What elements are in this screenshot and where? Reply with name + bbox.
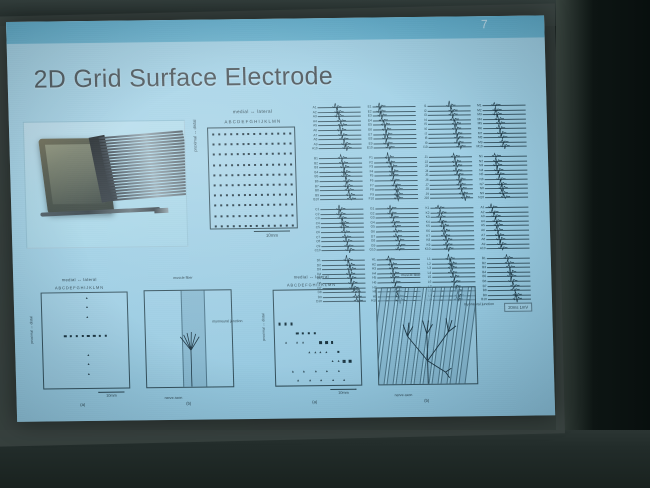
electrode-photograph: [23, 120, 189, 249]
electrode-dot: [289, 153, 291, 155]
emg-channel-label: K2: [421, 210, 429, 214]
electrode-dot: [289, 143, 291, 145]
panel-1a-column-letters: ABCDEFGHIJKLMN: [27, 284, 131, 290]
emg-trace-baseline: [429, 161, 472, 163]
scatter-point-square: [104, 335, 106, 337]
emg-channel-label: B6: [311, 179, 319, 183]
electrode-dot-row: [208, 132, 294, 134]
electrode-dot: [220, 195, 222, 197]
emg-channel-block: J1J2J3J4J5J6J7J8J9J10: [420, 153, 476, 205]
electrode-dot: [238, 215, 240, 217]
emg-channel-label: F8: [366, 188, 374, 192]
electrode-dot: [285, 194, 287, 196]
emg-channel-label: A4: [477, 219, 485, 223]
scatter-point-triangle: [285, 342, 287, 344]
emg-channel-block: K1K2K3K4K5K6K7K8K9K10: [421, 204, 477, 256]
electrode-dot: [227, 225, 229, 227]
emg-channel-block: M1M2M3M4M5M6M7M8M9M10: [473, 102, 529, 154]
electrode-dot: [244, 225, 246, 227]
emg-trace-baseline: [320, 199, 363, 201]
emg-channel-label: C8: [312, 239, 320, 243]
electrode-dot: [237, 184, 239, 186]
panel-1b-schematic: muscle fiber myoneural junction nerve ax…: [133, 275, 241, 404]
emg-channel-label: K7: [422, 233, 430, 237]
electrode-dot-row: [210, 183, 296, 185]
emg-trace-baseline: [486, 243, 529, 245]
electrode-dot: [226, 215, 228, 217]
emg-channel-label: A7: [477, 233, 485, 237]
electrode-dot: [259, 133, 261, 135]
panel-1a-scale-bar: 10mm: [98, 392, 124, 398]
presentation-slide: 7 2D Grid Surface Electrode medial ↔ lat…: [6, 15, 555, 421]
panel-2a-axis-top-label: medial ↔ lateral: [259, 274, 363, 280]
panel-1a-label: (a): [31, 401, 135, 407]
electrode-dot: [284, 163, 286, 165]
emg-channel-label: A7: [309, 133, 317, 137]
electrode-dot: [242, 143, 244, 145]
emg-channel-block: I1I2I3I4I5I6I7I8I9I10: [418, 102, 474, 154]
electrode-dot: [254, 164, 256, 166]
emg-channel-block: B1B2B3B4B5B6B7B8B9B10: [310, 155, 366, 207]
scatter-point-square: [70, 335, 72, 337]
emg-channel-block: B1B2B3B4B5B6B7B8B9B10: [478, 255, 534, 307]
emg-action-potential: [500, 141, 509, 150]
electrode-dot: [291, 214, 293, 216]
emg-channel-label: M3: [474, 112, 482, 116]
emg-trace-baseline: [431, 239, 474, 241]
emg-channel-label: J10: [421, 196, 429, 200]
electrode-dot: [265, 133, 267, 135]
emg-channel-label: A6: [477, 228, 485, 232]
electrode-dot: [266, 143, 268, 145]
emg-channel-label: J7: [421, 182, 429, 186]
electrode-dot: [266, 163, 268, 165]
scatter-point-square: [331, 341, 333, 343]
electrode-dot: [290, 173, 292, 175]
scatter-point-square: [93, 335, 95, 337]
emg-trace-baseline: [428, 124, 471, 126]
electrode-dot: [230, 154, 232, 156]
emg-trace-baseline: [319, 143, 362, 145]
emg-channel-label: I8: [419, 136, 427, 140]
scatter-point-triangle: [86, 297, 88, 299]
emg-trace-baseline: [374, 147, 417, 149]
emg-channel-label: A6: [309, 128, 317, 132]
electrode-dot: [279, 204, 281, 206]
scatter-point-triangle: [297, 379, 299, 381]
electrode-dot: [272, 163, 274, 165]
scatter-point-triangle: [332, 379, 334, 381]
emg-channel-label: I1: [418, 104, 426, 108]
electrode-dot: [260, 163, 262, 165]
wall-right-panel: [556, 0, 650, 488]
emg-channel-label: I9: [419, 141, 427, 145]
electrode-dot: [248, 133, 250, 135]
emg-trace-baseline: [486, 234, 529, 236]
electrode-dot: [226, 205, 228, 207]
emg-trace-baseline: [374, 157, 417, 159]
emg-channel-label: B1: [478, 256, 486, 260]
emg-channel-label: M4: [474, 117, 482, 121]
scatter-point-triangle: [320, 379, 322, 381]
panel-2a-scatter: medial ↔ lateral ABCDEFGHIJKLMN proximal…: [259, 274, 367, 403]
emg-channel-label: G5: [367, 225, 375, 229]
electrode-dot: [256, 225, 258, 227]
emg-channel-label: A10: [477, 247, 485, 251]
electrode-dot-row: [211, 224, 297, 226]
electrode-dot-row: [208, 143, 294, 145]
emg-channel-label: J3: [420, 164, 428, 168]
panel-2a-scale-label: 10mm: [330, 391, 356, 395]
electrode-dot: [261, 204, 263, 206]
panel-2b-muscle-fiber-caption: muscle fiber: [401, 273, 420, 277]
emg-channel-block: N1N2N3N4N5N6N7N8N9N10: [475, 153, 531, 205]
emg-channel-label: J6: [421, 178, 429, 182]
emg-channel-label: I4: [419, 118, 427, 122]
emg-channel-label: A1: [308, 105, 316, 109]
emg-channel-label: M9: [474, 140, 482, 144]
emg-channel-label: N1: [475, 154, 483, 158]
emg-channel-label: F2: [365, 160, 373, 164]
panel-2a-label: (a): [263, 399, 367, 405]
electrode-dot: [215, 225, 217, 227]
emg-channel-label: E10: [365, 146, 373, 150]
emg-channel-label: N4: [475, 168, 483, 172]
emg-channel-label: N9: [476, 191, 484, 195]
emg-channel-label: B7: [311, 184, 319, 188]
emg-channel-label: N7: [476, 182, 484, 186]
electrode-dot: [250, 204, 252, 206]
electrode-dot: [271, 143, 273, 145]
emg-channel-label: A3: [477, 214, 485, 218]
emg-channel-label: F10: [366, 197, 374, 201]
emg-channel-label: D2: [313, 263, 321, 267]
emg-trace-baseline: [321, 245, 364, 247]
scatter-point-triangle: [302, 342, 304, 344]
emg-channel-label: B9: [311, 193, 319, 197]
emg-trace-baseline: [429, 170, 472, 172]
electrode-dot: [231, 164, 233, 166]
pen-tip: [154, 208, 168, 214]
electrode-dot: [219, 164, 221, 166]
electrode-dot: [286, 224, 288, 226]
emg-trace-baseline: [488, 299, 531, 301]
emg-channel-label: A9: [309, 142, 317, 146]
emg-channel-label: A3: [309, 114, 317, 118]
emg-channel-label: I10: [420, 145, 428, 149]
panel-2a-column-letters: ABCDEFGHIJKLMN: [259, 282, 363, 288]
electrode-dot: [291, 194, 293, 196]
electrode-dot: [218, 133, 220, 135]
emg-channel-label: B3: [478, 265, 486, 269]
scatter-point-triangle: [308, 351, 310, 353]
electrode-dot: [255, 204, 257, 206]
electrode-dot: [250, 215, 252, 217]
scatter-point-square: [87, 335, 89, 337]
electrode-dot: [213, 164, 215, 166]
emg-channel-label: J8: [421, 187, 429, 191]
emg-channel-label: M1: [473, 103, 481, 107]
electrode-dot: [284, 173, 286, 175]
emg-action-potential: [394, 194, 403, 203]
electrode-dot: [266, 153, 268, 155]
emg-channel-block: A1A2A3A4A5A6A7A8A9A10: [308, 104, 364, 156]
nerve-axon-drawing: [145, 290, 234, 387]
emg-channel-label: I7: [419, 131, 427, 135]
emg-channel-label: K10: [422, 247, 430, 251]
emg-channel-label: E4: [364, 118, 372, 122]
electrode-dot: [254, 153, 256, 155]
grid-axis-top-label: medial ↔ lateral: [205, 108, 301, 114]
emg-action-potential: [513, 294, 522, 303]
emg-channel-label: L1: [423, 257, 431, 261]
emg-channel-label: C9: [312, 244, 320, 248]
scatter-point-triangle: [337, 360, 339, 362]
emg-channel-label: C3: [312, 216, 320, 220]
emg-action-potential: [385, 143, 394, 152]
panel-2b-label: (b): [369, 397, 485, 403]
emg-channel-label: M6: [474, 126, 482, 130]
scatter-point-square: [325, 341, 327, 343]
scatter-point-square: [308, 332, 310, 334]
panel-1b-nerve-axon-caption: nerve axon: [165, 396, 183, 400]
electrode-dot: [225, 164, 227, 166]
emg-channel-label: J1: [420, 155, 428, 159]
electrode-dot: [224, 133, 226, 135]
scatter-point-triangle: [344, 379, 346, 381]
scatter-point-triangle: [320, 351, 322, 353]
emg-trace-baseline: [484, 160, 527, 162]
scatter-point-triangle: [326, 370, 328, 372]
emg-channel-label: B8: [311, 188, 319, 192]
scatter-point-square: [284, 323, 286, 325]
emg-channel-label: G8: [367, 239, 375, 243]
panel-1a-scale-label: 10mm: [98, 394, 124, 398]
electrode-dot: [279, 214, 281, 216]
electrode-dot: [238, 225, 240, 227]
electrode-dot: [266, 174, 268, 176]
emg-trace-baseline: [320, 185, 363, 187]
emg-channel-label: A9: [477, 242, 485, 246]
emg-trace-baseline: [487, 248, 530, 250]
emg-channel-label: C1: [311, 207, 319, 211]
electrode-dot: [268, 214, 270, 216]
electrode-dot: [225, 174, 227, 176]
emg-channel-label: B1: [310, 156, 318, 160]
electrode-dot: [254, 143, 256, 145]
panel-1a-axis-left-label: proximal ↔ distal: [29, 316, 34, 344]
emg-channel-label: D1: [313, 258, 321, 262]
electrode-dot: [230, 133, 232, 135]
electrode-dot: [242, 133, 244, 135]
emg-channel-label: M8: [474, 135, 482, 139]
emg-channel-label: H3: [368, 267, 376, 271]
electrode-dot: [236, 154, 238, 156]
scatter-point-square: [290, 323, 292, 325]
emg-trace-baseline: [484, 156, 527, 158]
emg-trace-baseline: [322, 269, 365, 271]
scatter-point-triangle: [88, 354, 90, 356]
emg-channel-label: K9: [422, 243, 430, 247]
grid-scale-label: 10mm: [254, 233, 290, 238]
emg-channel-label: G4: [367, 220, 375, 224]
screenshot-stage: 7 2D Grid Surface Electrode medial ↔ lat…: [0, 0, 650, 488]
scatter-point-triangle: [314, 370, 316, 372]
emg-trace-baseline: [377, 264, 420, 266]
emg-channel-label: K1: [421, 206, 429, 210]
electrode-dot: [261, 174, 263, 176]
emg-channel-label: N10: [476, 196, 484, 200]
emg-channel-label: K5: [422, 224, 430, 228]
slide-page-number: 7: [481, 17, 489, 31]
emg-channel-label: A4: [309, 119, 317, 123]
electrode-dot: [214, 215, 216, 217]
electrode-dot-row: [209, 153, 295, 155]
scatter-point-square: [279, 323, 281, 325]
electrode-dot: [290, 183, 292, 185]
emg-trace-baseline: [488, 294, 531, 296]
electrode-dot: [231, 174, 233, 176]
emg-action-potential: [501, 192, 510, 201]
electrode-dot: [255, 184, 257, 186]
emg-action-potential: [347, 194, 356, 203]
emg-channel-label: B3: [310, 165, 318, 169]
scatter-point-triangle: [331, 360, 333, 362]
scatter-point-square: [302, 332, 304, 334]
electrode-dot: [260, 153, 262, 155]
electrode-dot: [213, 174, 215, 176]
emg-channel-label: A1: [476, 205, 484, 209]
electrode-dot: [285, 214, 287, 216]
scatter-point-square: [81, 335, 83, 337]
electrode-dot: [249, 184, 251, 186]
electrode-dot-row: [209, 163, 295, 165]
emg-trace-baseline: [373, 129, 416, 131]
electrode-dot: [273, 204, 275, 206]
electrode-dot: [243, 184, 245, 186]
electrode-dot: [253, 133, 255, 135]
emg-action-potential: [396, 245, 405, 254]
electrode-dot: [230, 143, 232, 145]
emg-trace-baseline: [484, 165, 527, 167]
emg-channel-label: E3: [364, 114, 372, 118]
electrode-dot: [272, 153, 274, 155]
emg-trace-baseline: [484, 169, 527, 171]
emg-channel-label: F9: [366, 192, 374, 196]
panel-1b-frame: [144, 289, 235, 388]
emg-channel-label: H2: [368, 262, 376, 266]
panel-1a-plot-area: [41, 292, 131, 390]
electrode-dot: [283, 143, 285, 145]
scatter-point-triangle: [343, 360, 345, 362]
scatter-point-square: [313, 332, 315, 334]
emg-channel-label: I2: [419, 108, 427, 112]
emg-channel-label: G2: [366, 211, 374, 215]
emg-channel-block: E1E2E3E4E5E6E7E8E9E10: [363, 103, 419, 155]
scatter-point-square: [76, 335, 78, 337]
electrode-dot: [226, 194, 228, 196]
emg-channel-label: A8: [477, 237, 485, 241]
electrode-dot: [291, 204, 293, 206]
electrode-dot: [255, 194, 257, 196]
scatter-point-square: [337, 351, 339, 353]
emg-channel-label: M7: [474, 131, 482, 135]
emg-channel-label: I6: [419, 127, 427, 131]
electrode-dot: [284, 184, 286, 186]
electrode-dot: [219, 154, 221, 156]
emg-channel-label: N5: [475, 173, 483, 177]
electrode-dot: [220, 205, 222, 207]
emg-trace-baseline: [483, 109, 526, 111]
emg-channel-label: M5: [474, 122, 482, 126]
emg-channel-label: C7: [312, 235, 320, 239]
scatter-point-triangle: [325, 351, 327, 353]
scatter-point-square: [64, 335, 66, 337]
electrode-dot: [232, 205, 234, 207]
emg-channel-label: E7: [364, 132, 372, 136]
electrode-dot: [212, 144, 214, 146]
electrode-dot: [261, 184, 263, 186]
emg-channel-label: I5: [419, 122, 427, 126]
emg-channel-label: B5: [310, 175, 318, 179]
electrode-dot: [277, 143, 279, 145]
electrode-dot: [280, 224, 282, 226]
emg-trace-baseline: [320, 181, 363, 183]
emg-trace-baseline: [373, 138, 416, 140]
electrode-dot: [232, 194, 234, 196]
emg-channel-label: E9: [364, 141, 372, 145]
electrode-dot: [289, 133, 291, 135]
emg-trace-baseline: [431, 226, 474, 228]
emg-channel-block: C1C2C3C4C5C6C7C8C9C10: [311, 206, 367, 258]
electrode-dot-row: [210, 194, 296, 196]
emg-channel-label: N8: [476, 186, 484, 190]
electrode-dot: [279, 184, 281, 186]
emg-trace-baseline: [373, 124, 416, 126]
emg-action-potential: [461, 193, 470, 202]
electrode-dot: [237, 174, 239, 176]
electrode-dot: [220, 215, 222, 217]
panel-1b-muscle-fiber-caption: muscle fiber: [173, 276, 192, 280]
electrode-dot: [236, 133, 238, 135]
emg-channel-label: C6: [312, 230, 320, 234]
emg-trace-baseline: [322, 264, 365, 266]
emg-trace-baseline: [483, 114, 526, 116]
emg-trace-baseline: [484, 174, 527, 176]
emg-trace-baseline: [431, 235, 474, 237]
slide-title: 2D Grid Surface Electrode: [33, 62, 333, 95]
emg-action-potential: [343, 143, 352, 152]
emg-trace-baseline: [319, 148, 362, 150]
emg-trace-baseline: [373, 134, 416, 136]
emg-trace-baseline: [428, 137, 471, 139]
emg-channel-label: J4: [420, 169, 428, 173]
emg-channel-label: A5: [477, 224, 485, 228]
emg-trace-baseline: [429, 165, 472, 167]
panel-1b-myoneural-junction-caption: myoneural junction: [212, 319, 242, 323]
electrode-dot: [272, 174, 274, 176]
electrode-dot: [212, 133, 214, 135]
emg-channel-label: G10: [367, 248, 375, 252]
electrode-dot: [248, 153, 250, 155]
scatter-point-triangle: [309, 379, 311, 381]
emg-channel-label: K3: [422, 215, 430, 219]
emg-channel-label: F7: [366, 183, 374, 187]
electrode-dot: [231, 184, 233, 186]
electrode-dot: [261, 194, 263, 196]
grid-plot-area: [207, 126, 298, 229]
emg-trace-baseline: [320, 190, 363, 192]
